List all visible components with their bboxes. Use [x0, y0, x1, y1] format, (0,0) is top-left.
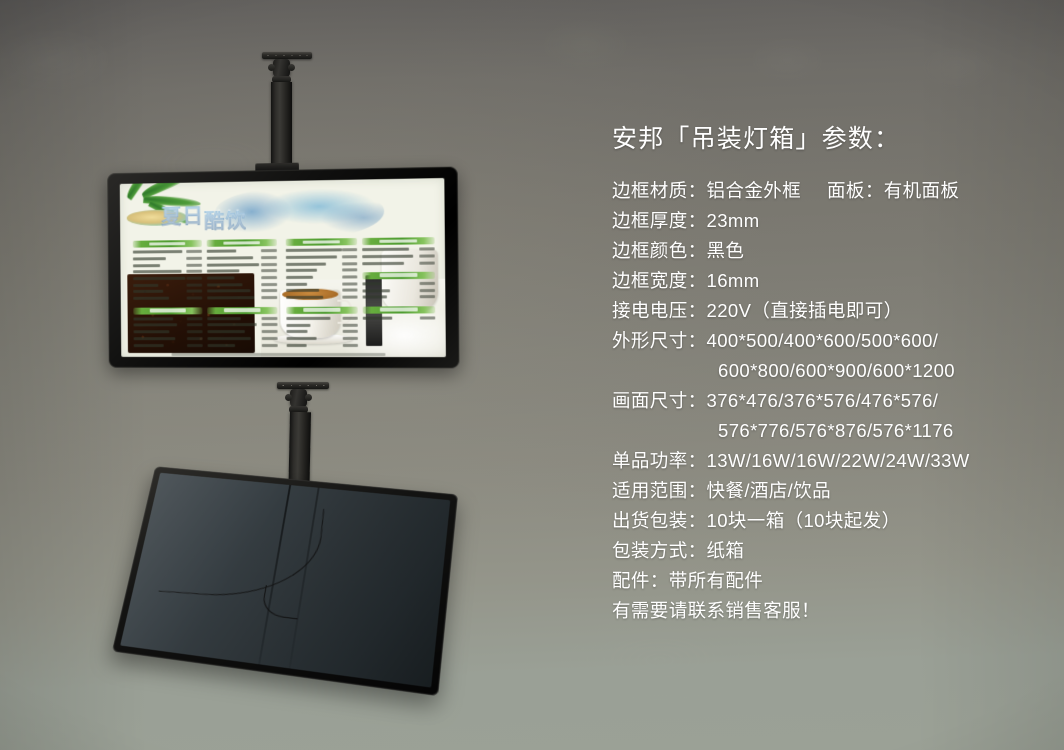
- spec-label: 画面尺寸：: [612, 386, 707, 416]
- spec-label: 外形尺寸：: [612, 326, 707, 356]
- spec-label: 接电电压：: [612, 296, 707, 326]
- power-cable-tail: [260, 585, 303, 620]
- spec-label: 边框宽度：: [612, 266, 707, 296]
- spec-label: 边框材质：: [612, 176, 707, 206]
- menu-section: [363, 306, 436, 349]
- menu-section: [286, 307, 358, 350]
- ceiling-plate-icon: [262, 52, 312, 59]
- spec-row: 边框颜色：黑色: [612, 236, 1042, 266]
- spec-value: 576*776/576*876/576*1176: [718, 416, 954, 446]
- spec-label: 单品功率：: [612, 446, 707, 476]
- spec-value: 快餐/酒店/饮品: [707, 476, 831, 506]
- spec-list: 边框材质：铝合金外框面板：有机面板边框厚度：23mm边框颜色：黑色边框宽度：16…: [612, 176, 1042, 626]
- spec-value: 400*500/400*600/500*600/: [707, 326, 939, 356]
- spec-row: 出货包装：10块一箱（10块起发）: [612, 506, 1042, 536]
- spec-row: 边框材质：铝合金外框面板：有机面板: [612, 176, 1042, 206]
- spec-value: 376*476/376*576/476*576/: [707, 386, 939, 416]
- spec-title: 安邦「吊装灯箱」参数：: [612, 126, 1042, 154]
- spec-row: 适用范围：快餐/酒店/饮品: [612, 476, 1042, 506]
- spec-value: 铝合金外框: [707, 176, 802, 206]
- menu-section: [133, 240, 203, 302]
- spec-label: 出货包装：: [612, 506, 707, 536]
- spec-value: 10块一箱（10块起发）: [707, 506, 901, 536]
- spec-value: 纸箱: [707, 536, 745, 566]
- ceiling-plate-icon: [277, 382, 329, 389]
- joint-knob-left-icon: [268, 64, 275, 71]
- section-header: [362, 237, 435, 245]
- poster-photo-backdrop: [261, 278, 446, 357]
- spec-value: 23mm: [707, 206, 760, 236]
- spec-value: 16mm: [707, 266, 760, 296]
- light-box-front: 夏日酷饮 夏日酷饮: [107, 167, 459, 369]
- grinder-photo: [365, 275, 382, 346]
- poster-footer-strip: [172, 353, 386, 356]
- section-header: [207, 307, 277, 314]
- menu-columns: [133, 237, 436, 352]
- spec-label: 适用范围：: [612, 476, 707, 506]
- specification-panel: 安邦「吊装灯箱」参数： 边框材质：铝合金外框面板：有机面板边框厚度：23mm边框…: [612, 126, 1042, 626]
- spec-label: 配件：: [612, 566, 669, 596]
- section-header: [286, 238, 357, 246]
- spec-value-extra: 面板：有机面板: [801, 176, 959, 206]
- spec-value: 13W/16W/16W/22W/24W/33W: [707, 446, 970, 476]
- spec-row: 边框厚度：23mm: [612, 206, 1042, 236]
- spec-row: 配件：带所有配件: [612, 566, 1042, 596]
- second-cup-photo: [382, 250, 439, 311]
- spec-row: 600*800/600*900/600*1200: [612, 356, 1042, 386]
- menu-column-left: [133, 239, 278, 352]
- spec-row: 有需要请联系销售客服！: [612, 596, 1042, 626]
- section-header: [286, 307, 357, 314]
- spec-row: 外形尺寸：400*500/400*600/500*600/: [612, 326, 1042, 356]
- poster-headline: 夏日酷饮 夏日酷饮: [161, 190, 342, 240]
- joint-knob-right-icon: [288, 64, 295, 71]
- spec-value: 有需要请联系销售客服！: [612, 596, 820, 626]
- product-spec-image: 夏日酷饮 夏日酷饮: [0, 0, 1064, 750]
- joint-knob-right-icon: [305, 394, 312, 401]
- spec-value: 带所有配件: [669, 566, 764, 596]
- back-panel: [120, 473, 450, 688]
- spec-row: 576*776/576*876/576*1176: [612, 416, 1042, 446]
- section-header: [133, 307, 202, 314]
- drop-tube: [271, 82, 292, 174]
- section-header: [207, 239, 277, 247]
- spec-value: 600*800/600*900/600*1200: [718, 356, 955, 386]
- spec-label: 边框厚度：: [612, 206, 707, 236]
- menu-section: [207, 307, 278, 349]
- section-header: [363, 272, 436, 280]
- spec-row: 单品功率：13W/16W/16W/22W/24W/33W: [612, 446, 1042, 476]
- spec-label: 边框颜色：: [612, 236, 707, 266]
- section-header: [363, 306, 436, 313]
- menu-section: [133, 307, 202, 349]
- spec-row: 画面尺寸：376*476/376*576/476*576/: [612, 386, 1042, 416]
- spec-label: 包装方式：: [612, 536, 707, 566]
- menu-section: [286, 238, 358, 302]
- spec-row: 边框宽度：16mm: [612, 266, 1042, 296]
- menu-section: [207, 239, 278, 302]
- menu-section: [362, 237, 435, 301]
- spec-row: 包装方式：纸箱: [612, 536, 1042, 566]
- spec-value: 黑色: [707, 236, 745, 266]
- menu-column-right: [286, 237, 436, 352]
- section-header: [133, 240, 202, 248]
- coffee-cup-photo: [274, 272, 356, 350]
- spec-value: 220V（直接插电即可）: [707, 296, 903, 326]
- poster-screen: 夏日酷饮 夏日酷饮: [120, 178, 446, 357]
- menu-poster: 夏日酷饮 夏日酷饮: [120, 178, 446, 357]
- spec-row: 接电电压：220V（直接插电即可）: [612, 296, 1042, 326]
- aluminium-frame: 夏日酷饮 夏日酷饮: [107, 167, 459, 369]
- joint-knob-left-icon: [285, 394, 292, 401]
